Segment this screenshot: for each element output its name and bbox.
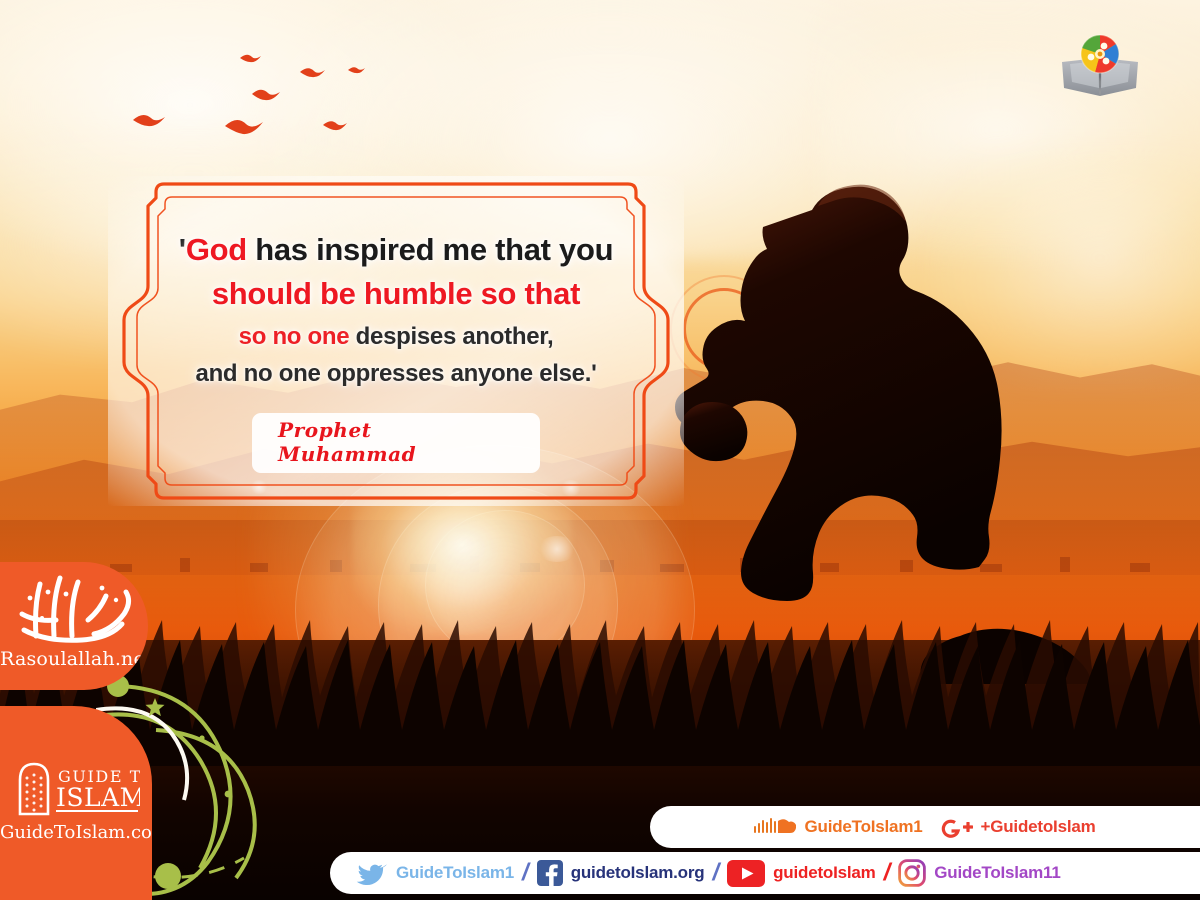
social-bar-top: GuideToIslam1 +GuidetoIslam xyxy=(650,806,1200,848)
quote-highlight-so-no-one: so no one xyxy=(239,323,350,350)
twitter-icon xyxy=(356,860,388,886)
bird-icon xyxy=(225,120,263,134)
bird-icon xyxy=(240,55,261,62)
bird-icon xyxy=(323,121,347,130)
guide-to-islam-domain-text: GuideToIslam.com xyxy=(0,822,152,843)
soundcloud-icon xyxy=(754,816,796,838)
facebook-icon xyxy=(537,860,563,886)
quote-line-2: should be humble so that xyxy=(126,276,666,313)
quote-attribution-text: Prophet Muhammad xyxy=(278,418,416,466)
lens-flare-dot xyxy=(537,536,577,562)
quote-line-4: and no one oppresses anyone else.' xyxy=(126,360,666,388)
bird-icon xyxy=(133,115,165,126)
google-plus-icon xyxy=(939,815,973,839)
globe-on-open-book-icon[interactable] xyxy=(1058,28,1142,102)
social-bar-bottom: GuideToIslam1 / guidetoIslam.org / guide… xyxy=(330,852,1200,894)
quote-card: 'God has inspired me that you should be … xyxy=(108,176,684,506)
poster-canvas: 'God has inspired me that you should be … xyxy=(0,0,1200,900)
social-link-youtube[interactable]: guidetoIslam xyxy=(727,860,875,887)
google-plus-handle: +GuidetoIslam xyxy=(981,817,1096,837)
quote-text-block: 'God has inspired me that you should be … xyxy=(126,232,666,389)
swirl-dot xyxy=(199,735,204,740)
twitter-handle: GuideToIslam1 xyxy=(396,863,514,883)
quote-attribution-badge: Prophet Muhammad xyxy=(252,413,540,473)
mihrab-arch-icon xyxy=(20,764,48,814)
soundcloud-handle: GuideToIslam1 xyxy=(804,817,922,837)
quote-line-1: 'God has inspired me that you xyxy=(126,232,666,269)
swirl-dot xyxy=(155,863,181,889)
quote-line-3: so no one despises another, xyxy=(126,323,666,351)
youtube-handle: guidetoIslam xyxy=(773,863,875,883)
facebook-handle: guidetoIslam.org xyxy=(571,863,705,883)
swirl-dot xyxy=(225,791,232,798)
bird-icon xyxy=(300,68,325,77)
flying-birds-group xyxy=(100,40,400,180)
social-link-google-plus[interactable]: +GuidetoIslam xyxy=(939,815,1096,839)
social-link-soundcloud[interactable]: GuideToIslam1 xyxy=(754,816,922,838)
social-link-facebook[interactable]: guidetoIslam.org xyxy=(537,860,705,886)
social-link-twitter[interactable]: GuideToIslam1 xyxy=(356,860,514,886)
guide-to-islam-logo: GUIDE TO ISLAM xyxy=(14,760,140,816)
rasoulallah-domain-text: Rasoulallah.net xyxy=(0,648,134,670)
separator: / xyxy=(712,859,719,887)
arabic-calligraphy-rasoulallah-icon xyxy=(6,570,136,646)
social-link-instagram[interactable]: GuideToIslam11 xyxy=(898,859,1060,887)
separator: / xyxy=(884,859,891,887)
instagram-icon xyxy=(898,859,926,887)
logo-islam-text: ISLAM xyxy=(56,783,140,812)
youtube-icon xyxy=(727,860,765,887)
instagram-handle: GuideToIslam11 xyxy=(934,863,1060,883)
bird-icon xyxy=(348,67,365,73)
bird-icon xyxy=(252,90,280,100)
rasoulallah-badge[interactable]: Rasoulallah.net xyxy=(0,562,148,690)
quote-highlight-god: God xyxy=(186,232,247,267)
guide-to-islam-badge[interactable]: GUIDE TO ISLAM GuideToIslam.com xyxy=(0,706,152,900)
separator: / xyxy=(522,859,529,887)
